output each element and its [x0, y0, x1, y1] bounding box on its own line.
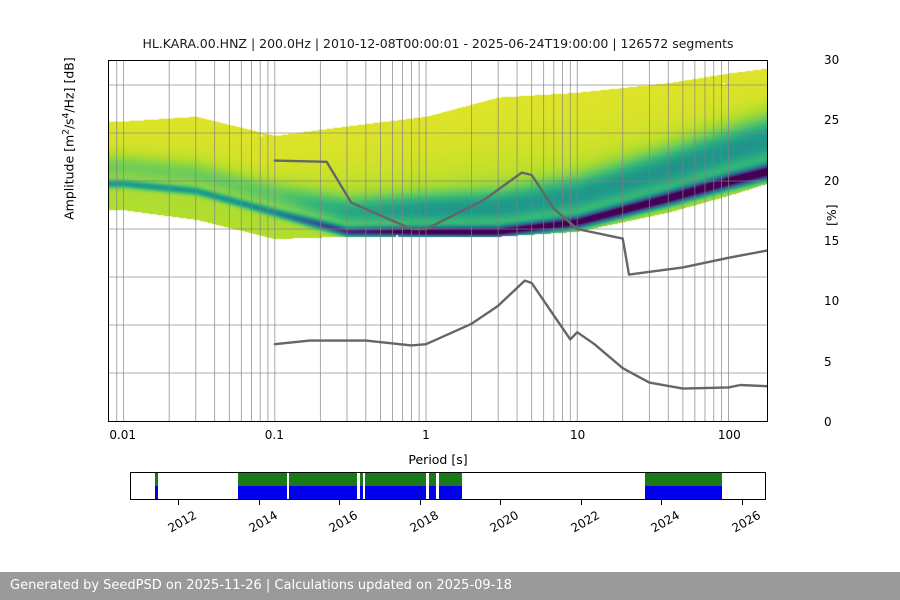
timeline-tick-mark — [500, 500, 501, 505]
timeline-tick-label: 2026 — [729, 508, 762, 535]
timeline-tick-label: 2016 — [327, 508, 360, 535]
timeline-segment-green — [429, 473, 436, 486]
timeline-segment-blue — [439, 486, 462, 499]
timeline-tick-mark — [339, 500, 340, 505]
timeline-segment-green — [439, 473, 462, 486]
timeline-segment-green — [365, 473, 425, 486]
colorbar-tick-label: 25 — [824, 113, 839, 127]
colorbar-tick-label: 10 — [824, 294, 839, 308]
colorbar-tick-label: 15 — [824, 234, 839, 248]
timeline-segment[interactable] — [429, 473, 436, 499]
timeline-segment-blue — [365, 486, 425, 499]
timeline-segment-blue — [429, 486, 436, 499]
timeline-tick-mark — [420, 500, 421, 505]
timeline-segment[interactable] — [365, 473, 425, 499]
colorbar-tick-label: 0 — [824, 415, 832, 429]
footer-text: Generated by SeedPSD on 2025-11-26 | Cal… — [10, 578, 512, 593]
colorbar-label: [%] — [824, 204, 839, 226]
x-axis-tick-label: 100 — [718, 428, 741, 442]
timeline-tick-mark — [581, 500, 582, 505]
timeline-tick-label: 2020 — [488, 508, 521, 535]
timeline-segment-green — [645, 473, 721, 486]
timeline-segment-blue — [289, 486, 357, 499]
timeline-segment[interactable] — [439, 473, 462, 499]
colorbar-tick-label: 30 — [824, 53, 839, 67]
timeline-segment-green — [289, 473, 357, 486]
page-title: HL.KARA.00.HNZ | 200.0Hz | 2010-12-08T00… — [108, 36, 768, 51]
timeline-segment[interactable] — [289, 473, 357, 499]
timeline-segment[interactable] — [155, 473, 158, 499]
timeline-segment-blue — [360, 486, 364, 499]
timeline-tick-mark — [742, 500, 743, 505]
y-axis-label: Amplitude [m2/s4/Hz] [dB] — [61, 0, 76, 320]
timeline-segment-green — [155, 473, 158, 486]
timeline-tick-label: 2014 — [246, 508, 279, 535]
timeline-tick-label: 2018 — [407, 508, 440, 535]
timeline-segment-blue — [645, 486, 721, 499]
x-axis-label: Period [s] — [108, 452, 768, 467]
timeline-segment[interactable] — [360, 473, 364, 499]
timeline-segment-blue — [155, 486, 158, 499]
timeline-tick-label: 2012 — [166, 508, 199, 535]
x-axis-tick-label: 10 — [570, 428, 585, 442]
timeline-tick-mark — [661, 500, 662, 505]
timeline-tick-label: 2022 — [568, 508, 601, 535]
timeline-segment[interactable] — [645, 473, 721, 499]
x-axis-tick-label: 0.1 — [265, 428, 284, 442]
colorbar-tick-label: 5 — [824, 355, 832, 369]
timeline-segment-green — [360, 473, 364, 486]
data-availability-timeline[interactable] — [130, 472, 766, 500]
timeline-tick-label: 2024 — [649, 508, 682, 535]
timeline-segment-blue — [238, 486, 288, 499]
x-axis-tick-label: 0.01 — [109, 428, 136, 442]
timeline-tick-mark — [178, 500, 179, 505]
timeline-segment-green — [238, 473, 288, 486]
colorbar-tick-label: 20 — [824, 174, 839, 188]
ppsd-figure: HL.KARA.00.HNZ | 200.0Hz | 2010-12-08T00… — [0, 0, 900, 600]
timeline-segment[interactable] — [238, 473, 288, 499]
y-axis-label-text: Amplitude [m2/s4/Hz] [dB] — [62, 57, 77, 220]
x-axis-tick-label: 1 — [422, 428, 430, 442]
timeline-tick-mark — [259, 500, 260, 505]
